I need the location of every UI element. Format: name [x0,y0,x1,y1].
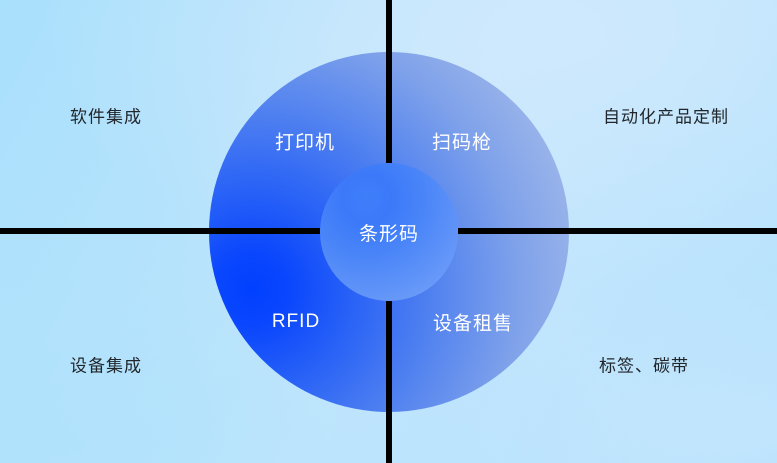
axis-line-right [458,228,777,234]
inner-segment-printer[interactable]: 打印机 [275,128,335,155]
axis-line-bottom [386,301,392,463]
inner-segment-rental[interactable]: 设备租售 [433,309,513,336]
center-circle[interactable]: 条形码 [320,163,458,301]
outer-segment-automation-product[interactable]: 自动化产品定制 [603,103,729,128]
axis-line-left [0,228,320,234]
outer-segment-consumables[interactable]: 标签、碳带 [599,352,689,377]
axis-line-top [386,0,392,163]
inner-segment-rfid[interactable]: RFID [272,311,320,333]
outer-segment-software[interactable]: 软件集成 [70,103,142,128]
diagram-canvas: 条形码 打印机 扫码枪 RFID 设备租售 软件集成 自动化产品定制 设备集成 … [0,0,777,463]
center-circle-label: 条形码 [320,163,458,301]
inner-segment-scanner[interactable]: 扫码枪 [432,128,492,155]
outer-segment-device-integration[interactable]: 设备集成 [70,352,142,377]
